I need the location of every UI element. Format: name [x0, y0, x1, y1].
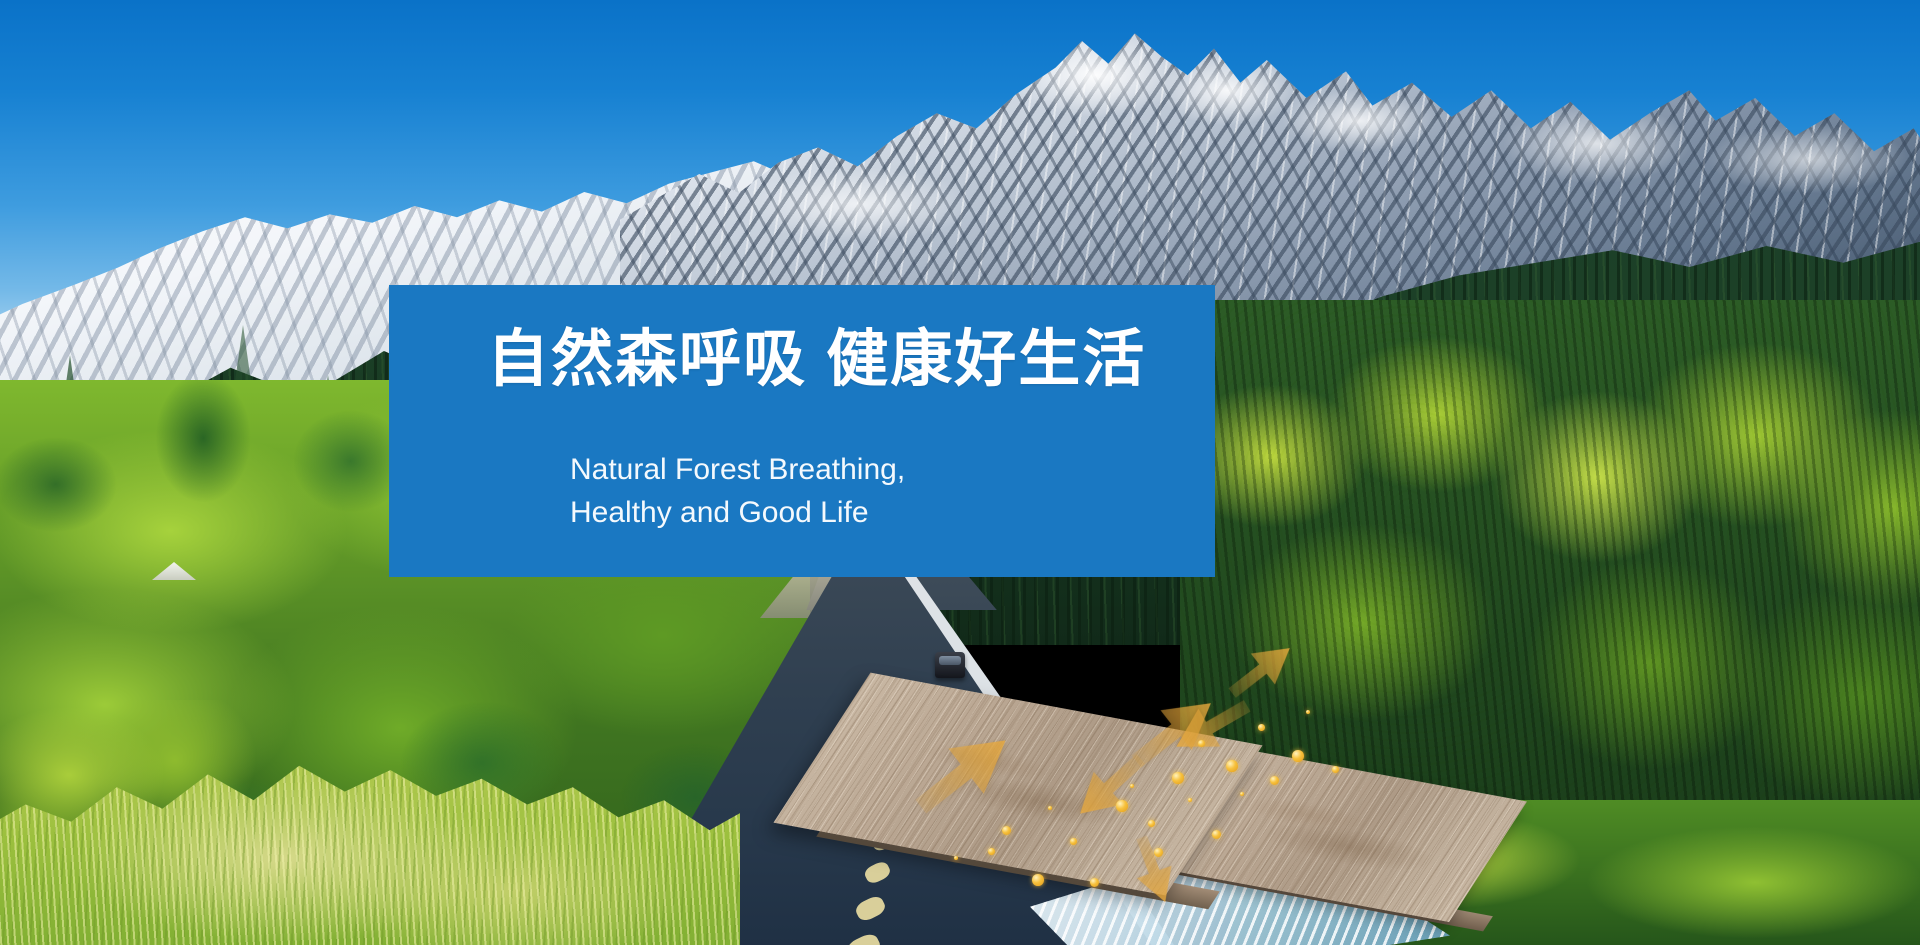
air-particle: [954, 856, 958, 860]
air-particle: [1116, 800, 1128, 812]
air-particle: [1198, 740, 1205, 747]
banner-headline: 自然森呼吸 健康好生活: [487, 327, 1146, 392]
text-overlay-panel: 自然森呼吸 健康好生活 Natural Forest Breathing, He…: [389, 285, 1215, 577]
hero-banner: 自然森呼吸 健康好生活 Natural Forest Breathing, He…: [0, 0, 1920, 945]
banner-subtitle: Natural Forest Breathing, Healthy and Go…: [570, 449, 905, 534]
air-particle: [1032, 874, 1044, 886]
air-particle: [1002, 826, 1011, 835]
air-particle: [1306, 710, 1310, 714]
air-particle: [1070, 838, 1077, 845]
air-particle: [1090, 878, 1099, 887]
air-particle: [988, 848, 995, 855]
air-particle: [1130, 784, 1134, 788]
air-particle: [1258, 724, 1265, 731]
air-particle: [1270, 776, 1279, 785]
air-particle: [1212, 830, 1221, 839]
car-windshield: [939, 656, 961, 665]
air-particle: [1188, 798, 1192, 802]
air-particle: [1148, 820, 1155, 827]
air-particle: [1240, 792, 1244, 796]
air-particle: [1154, 848, 1163, 857]
air-particle: [1172, 772, 1184, 784]
air-particle: [1332, 766, 1339, 773]
air-particle: [1048, 806, 1052, 810]
air-particle: [1226, 760, 1238, 772]
wood-flooring-graphic: [940, 680, 1480, 945]
air-particle: [1292, 750, 1304, 762]
